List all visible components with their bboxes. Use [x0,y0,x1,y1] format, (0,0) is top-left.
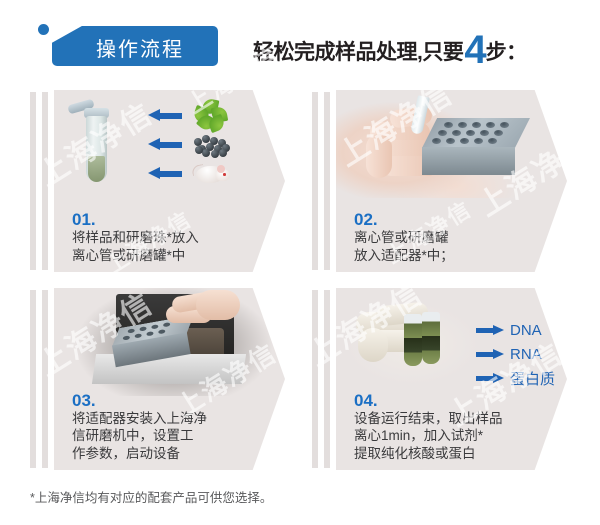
step-text-line: 放入适配器*中； [354,247,554,265]
output-list: DNA RNA 蛋白质 [476,318,567,390]
tube-and-samples-illustration [54,90,285,198]
card-text-03: 03. 将适配器安装入上海净 信研磨机中，设置工 作参数，启动设备 [72,391,272,463]
gloved-hand-with-tubes-photo: DNA RNA 蛋白质 [336,288,567,396]
sample-tube-icon [422,312,440,364]
step-number: 01. [72,210,272,229]
card-text-04: 04. 设备运行结束，取出样品 离心1min，加入试剂* 提取纯化核酸或蛋白 [354,391,554,463]
card-panel: 03. 将适配器安装入上海净 信研磨机中，设置工 作参数，启动设备 [54,288,285,470]
mouse-icon [192,160,232,186]
leaf-icon [194,99,228,131]
step-text-line: 设备运行结束，取出样品 [354,410,554,428]
card-accent-bar [312,92,318,270]
step-card-01: 01. 将样品和研磨珠*放入 离心管或研磨罐*中 [30,90,285,272]
card-panel: 02. 离心管或研磨罐 放入适配器*中； [336,90,567,272]
step-text-line: 将适配器安装入上海净 [72,410,272,428]
step-number: 02. [354,210,554,229]
output-row: RNA [476,342,567,366]
section-banner: 操作流程 [52,26,218,66]
hand-icon [166,290,242,338]
card-accent-bar [42,290,48,468]
card-accent-bar [30,290,36,468]
installing-adapter-in-grinder-photo [54,288,285,396]
card-panel: DNA RNA 蛋白质 04. 设备运行结束，取出样品 离心1min，加入试剂* [336,288,567,470]
sample-tube-icon [404,314,422,366]
card-accent-bar [324,92,330,270]
card-text-01: 01. 将样品和研磨珠*放入 离心管或研磨罐*中 [72,210,272,264]
step-card-03: 03. 将适配器安装入上海净 信研磨机中，设置工 作参数，启动设备 [30,288,285,470]
right-arrow-icon [476,349,504,360]
page-header: 操作流程 轻松完成样品处理,只要 4 步： [0,0,600,90]
step-card-02: 02. 离心管或研磨罐 放入适配器*中； [312,90,567,272]
card-accent-bar [312,290,318,468]
output-label: DNA [510,322,542,339]
headline-step-count: 4 [464,34,484,66]
step-text-line: 离心1min，加入试剂* [354,427,554,445]
step-text-line: 作参数，启动设备 [72,445,272,463]
step-text-line: 离心管或研磨罐*中 [72,247,272,265]
card-text-02: 02. 离心管或研磨罐 放入适配器*中； [354,210,554,264]
output-label: RNA [510,346,542,363]
right-arrow-icon [476,325,504,336]
bullet-dot-icon [38,24,49,35]
card-accent-bar [42,92,48,270]
card-panel: 01. 将样品和研磨珠*放入 离心管或研磨罐*中 [54,90,285,272]
page-headline: 轻松完成样品处理,只要 4 步： [253,30,527,70]
card-accent-bar [30,92,36,270]
headline-prefix: 轻松完成样品处理,只要 [253,36,463,66]
hand-loading-adapter-photo [336,90,567,198]
step-text-line: 离心管或研磨罐 [354,229,554,247]
headline-suffix: 步： [486,36,527,66]
adapter-block-icon [422,118,530,176]
centrifuge-tube-icon [82,102,112,184]
grinding-beads-icon [192,134,232,156]
step-text-line: 将样品和研磨珠*放入 [72,229,272,247]
step-number: 04. [354,391,554,410]
card-accent-bar [324,290,330,468]
step-text-line: 提取纯化核酸或蛋白 [354,445,554,463]
left-arrow-icon [148,167,182,180]
step-text-line: 信研磨机中，设置工 [72,427,272,445]
banner-title: 操作流程 [52,33,218,62]
output-label: 蛋白质 [510,368,555,389]
left-arrow-icon [148,138,182,151]
step-number: 03. [72,391,272,410]
left-arrow-icon [148,109,182,122]
right-arrow-icon [476,373,504,384]
footnote-text: *上海净信均有对应的配套产品可供您选择。 [30,487,272,506]
output-row: 蛋白质 [476,366,567,390]
output-row: DNA [476,318,567,342]
steps-grid: 01. 将样品和研磨珠*放入 离心管或研磨罐*中 [0,90,600,480]
step-card-04: DNA RNA 蛋白质 04. 设备运行结束，取出样品 离心1min，加入试剂* [312,288,567,470]
